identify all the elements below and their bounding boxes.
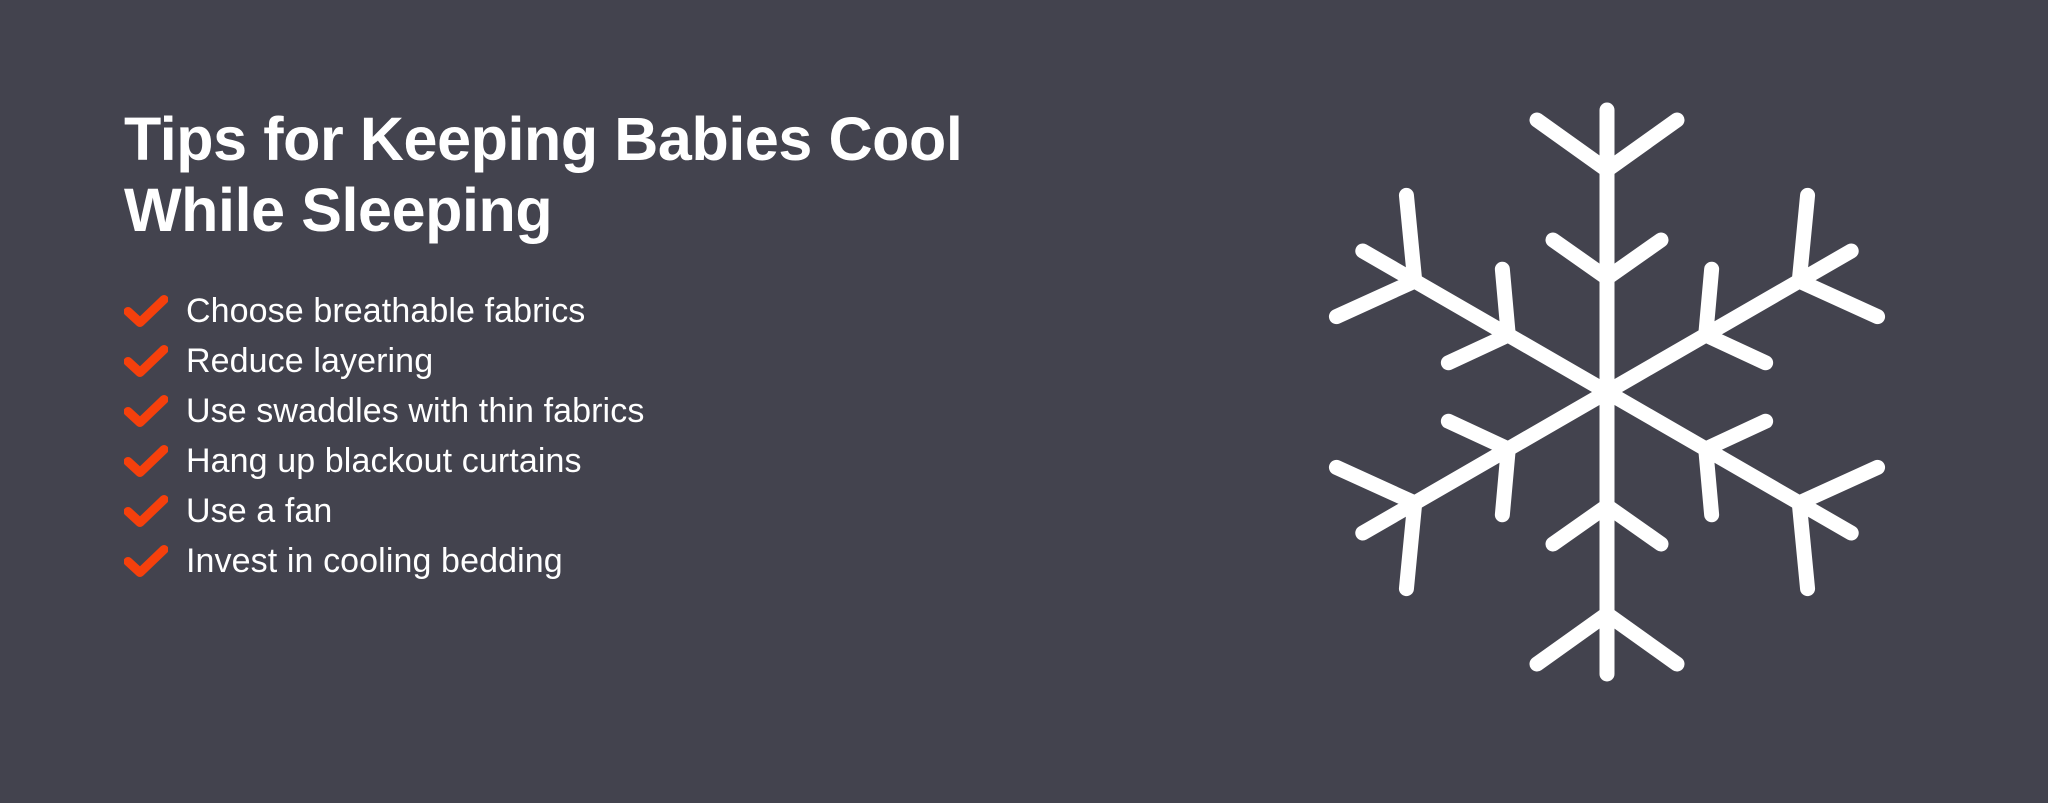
list-item-label: Use a fan	[186, 491, 332, 531]
infographic-canvas: Tips for Keeping Babies Cool While Sleep…	[0, 0, 2048, 803]
list-item-label: Invest in cooling bedding	[186, 541, 563, 581]
list-item-label: Reduce layering	[186, 341, 433, 381]
list-item: Use swaddles with thin fabrics	[124, 386, 1184, 436]
list-item-label: Hang up blackout curtains	[186, 441, 582, 481]
check-icon	[124, 494, 168, 528]
list-item: Hang up blackout curtains	[124, 436, 1184, 486]
text-content-column: Tips for Keeping Babies Cool While Sleep…	[124, 104, 1184, 586]
list-item-label: Use swaddles with thin fabrics	[186, 391, 644, 431]
check-icon	[124, 294, 168, 328]
list-item-label: Choose breathable fabrics	[186, 291, 585, 331]
list-item: Use a fan	[124, 486, 1184, 536]
list-item: Choose breathable fabrics	[124, 286, 1184, 336]
list-item: Invest in cooling bedding	[124, 536, 1184, 586]
check-icon	[124, 344, 168, 378]
list-item: Reduce layering	[124, 336, 1184, 386]
check-icon	[124, 544, 168, 578]
page-title: Tips for Keeping Babies Cool While Sleep…	[124, 104, 1184, 246]
tips-list: Choose breathable fabrics Reduce layerin…	[124, 286, 1184, 586]
check-icon	[124, 394, 168, 428]
check-icon	[124, 444, 168, 478]
snowflake-icon	[1297, 82, 1917, 702]
